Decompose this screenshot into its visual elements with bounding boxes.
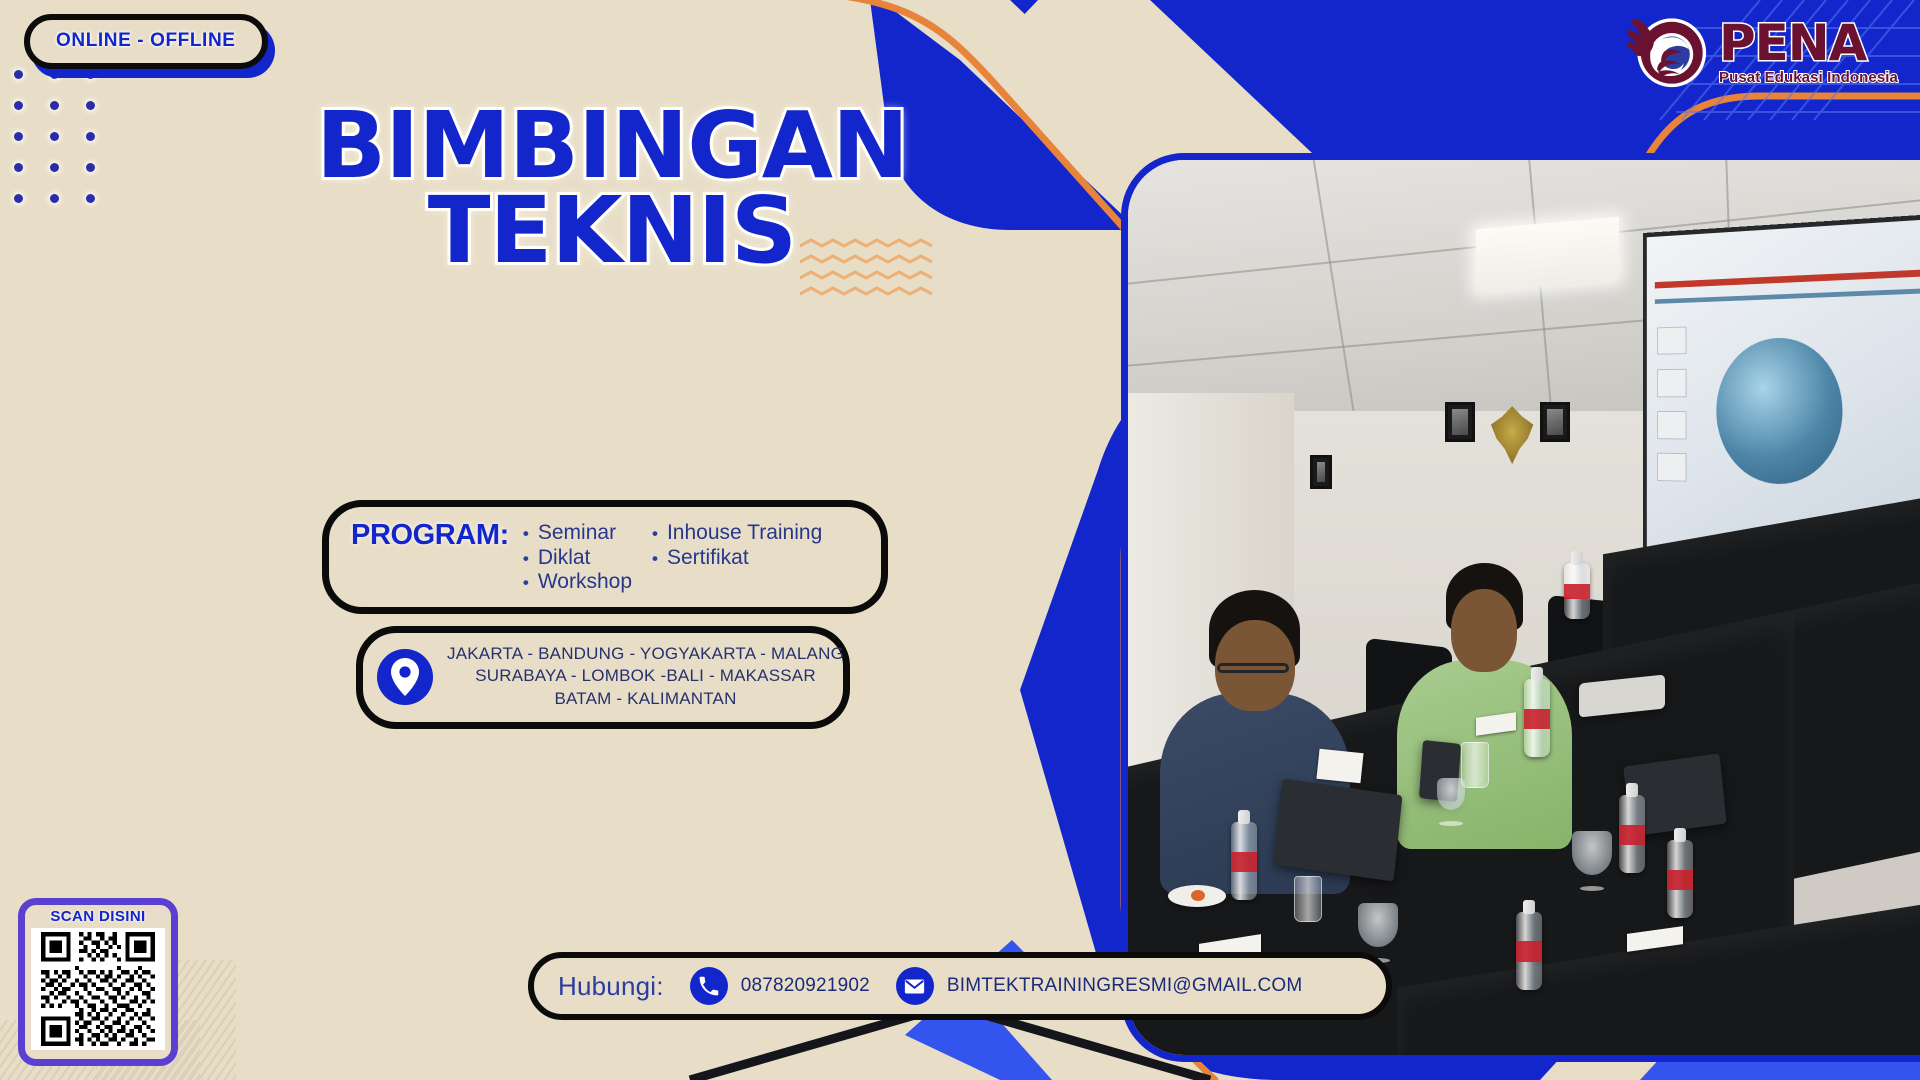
contact-bar: Hubungi: 087820921902 BIMTEKTRAININGRESM…: [528, 952, 1392, 1020]
poster-headline: BIMBINGAN TEKNIS: [262, 104, 962, 273]
program-item-label: Seminar: [538, 521, 616, 546]
program-panel: PROGRAM: •Seminar •Diklat •Workshop •Inh…: [322, 500, 888, 614]
location-line: BATAM - KALIMANTAN: [447, 688, 844, 710]
bullet-icon: •: [652, 524, 658, 544]
logo-name: PENA: [1719, 18, 1898, 68]
qr-card[interactable]: SCAN DISINI: [18, 898, 178, 1066]
contact-label: Hubungi:: [558, 971, 664, 1002]
program-list-column-2: •Inhouse Training •Sertifikat: [652, 521, 822, 595]
bullet-icon: •: [523, 549, 529, 569]
contact-email[interactable]: BIMTEKTRAININGRESMI@GMAIL.COM: [896, 967, 1303, 1005]
program-item-label: Diklat: [538, 546, 591, 571]
program-item: •Workshop: [523, 570, 632, 595]
email-icon: [896, 967, 934, 1005]
program-item-label: Workshop: [538, 570, 632, 595]
program-item: •Diklat: [523, 546, 632, 571]
program-item: •Seminar: [523, 521, 632, 546]
program-item: •Inhouse Training: [652, 521, 822, 546]
bullet-icon: •: [523, 573, 529, 593]
phone-number: 087820921902: [741, 975, 870, 997]
location-line: JAKARTA - BANDUNG - YOGYAKARTA - MALANG: [447, 643, 844, 665]
qr-code-icon[interactable]: [31, 928, 165, 1050]
poster-root: ONLINE - OFFLINE BIMBINGAN TEKNIS PROGRA…: [0, 0, 1920, 1080]
headline-line-1: BIMBINGAN: [262, 104, 962, 189]
location-line: SURABAYA - LOMBOK -BALI - MAKASSAR: [447, 665, 844, 687]
qr-title: SCAN DISINI: [31, 909, 165, 926]
training-room-photo: [1128, 160, 1920, 1055]
location-pin-icon: [377, 649, 433, 705]
program-list-column-1: •Seminar •Diklat •Workshop: [523, 521, 632, 595]
program-item: •Sertifikat: [652, 546, 822, 571]
headline-line-2: TEKNIS: [262, 189, 962, 274]
bullet-icon: •: [652, 549, 658, 569]
online-offline-badge: ONLINE - OFFLINE: [24, 14, 268, 69]
email-address: BIMTEKTRAININGRESMI@GMAIL.COM: [947, 975, 1303, 997]
locations-text: JAKARTA - BANDUNG - YOGYAKARTA - MALANG …: [447, 643, 844, 710]
bullet-icon: •: [523, 524, 529, 544]
program-item-label: Sertifikat: [667, 546, 749, 571]
program-title: PROGRAM:: [351, 517, 509, 552]
logo-tagline: Pusat Edukasi Indonesia: [1719, 70, 1898, 85]
pena-eagle-icon: [1627, 8, 1713, 94]
contact-phone[interactable]: 087820921902: [690, 967, 870, 1005]
pena-logo: PENA Pusat Edukasi Indonesia: [1627, 8, 1898, 94]
locations-panel: JAKARTA - BANDUNG - YOGYAKARTA - MALANG …: [356, 626, 850, 729]
online-offline-label: ONLINE - OFFLINE: [56, 30, 236, 51]
program-item-label: Inhouse Training: [667, 521, 822, 546]
phone-icon: [690, 967, 728, 1005]
